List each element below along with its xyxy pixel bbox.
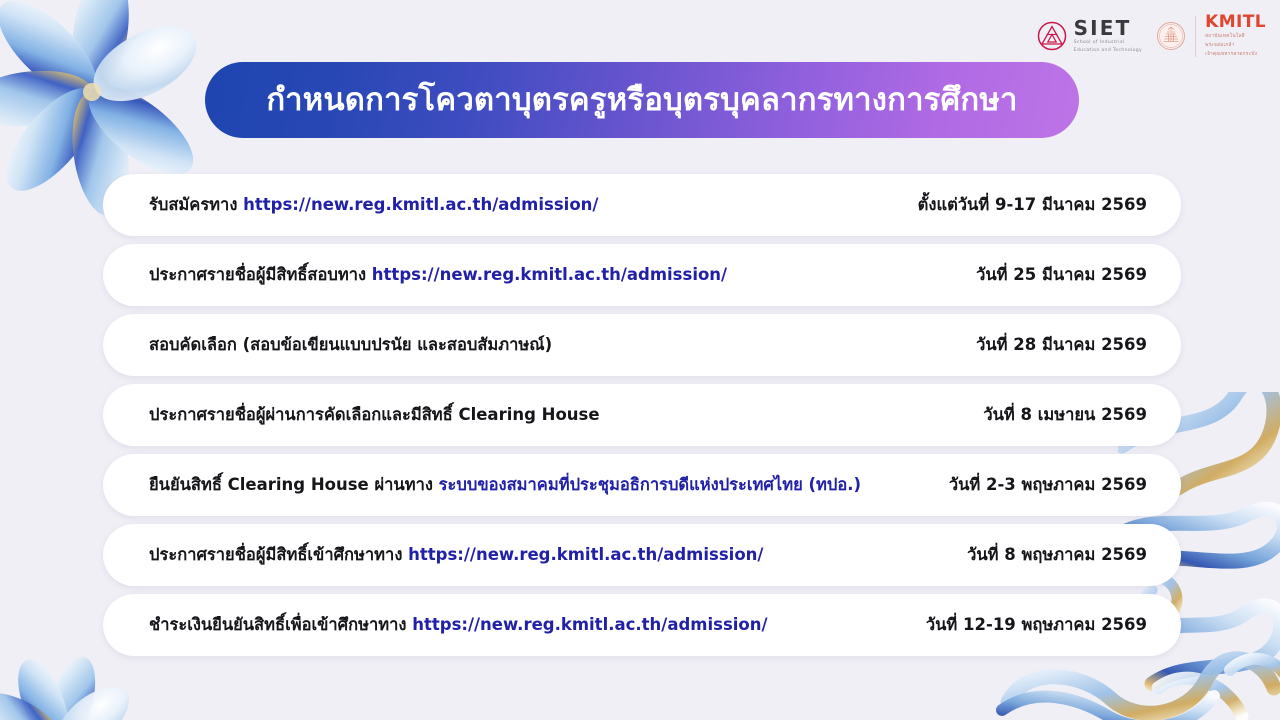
- schedule-row-label: ชำระเงินยืนยันสิทธิ์เพื่อเข้าศึกษาทาง ht…: [149, 617, 926, 634]
- schedule-row-date: วันที่ 28 มีนาคม 2569: [976, 337, 1147, 354]
- schedule-row-label: รับสมัครทาง https://new.reg.kmitl.ac.th/…: [149, 197, 918, 214]
- schedule-row-label: ยืนยันสิทธิ์ Clearing House ผ่านทาง ระบบ…: [149, 477, 949, 494]
- page-title: กำหนดการโควตาบุตรครูหรือบุตรบุคลากรทางกา…: [266, 85, 1017, 116]
- schedule-row: ประกาศรายชื่อผู้ผ่านการคัดเลือกและมีสิทธ…: [103, 384, 1181, 446]
- schedule-row: ชำระเงินยืนยันสิทธิ์เพื่อเข้าศึกษาทาง ht…: [103, 594, 1181, 656]
- schedule-row-date: วันที่ 8 พฤษภาคม 2569: [967, 547, 1147, 564]
- schedule-row-label-text: สอบคัดเลือก (สอบข้อเขียนแบบปรนัย และสอบส…: [149, 335, 552, 354]
- kmitl-logo: KMITL สถาบันเทคโนโลยี พระจอมเกล้า เจ้าคุ…: [1156, 14, 1266, 59]
- schedule-row: สอบคัดเลือก (สอบข้อเขียนแบบปรนัย และสอบส…: [103, 314, 1181, 376]
- schedule-row-date: วันที่ 12-19 พฤษภาคม 2569: [926, 617, 1147, 634]
- schedule-row-label-text: ชำระเงินยืนยันสิทธิ์เพื่อเข้าศึกษาทาง: [149, 615, 412, 634]
- schedule-row-link[interactable]: https://new.reg.kmitl.ac.th/admission/: [412, 615, 767, 634]
- schedule-row-label: สอบคัดเลือก (สอบข้อเขียนแบบปรนัย และสอบส…: [149, 337, 976, 354]
- schedule-row: ประกาศรายชื่อผู้มีสิทธิ์เข้าศึกษาทาง htt…: [103, 524, 1181, 586]
- siet-triangle-circle-logo-icon: [1037, 21, 1067, 51]
- schedule-row-label-text: ประกาศรายชื่อผู้มีสิทธิ์เข้าศึกษาทาง: [149, 545, 408, 564]
- schedule-row-date: วันที่ 25 มีนาคม 2569: [976, 267, 1147, 284]
- schedule-row-link[interactable]: https://new.reg.kmitl.ac.th/admission/: [372, 265, 727, 284]
- schedule-row-highlight: ระบบของสมาคมที่ประชุมอธิการบดีแห่งประเทศ…: [439, 475, 861, 494]
- schedule-row-label-text: ประกาศรายชื่อผู้มีสิทธิ์สอบทาง: [149, 265, 372, 284]
- kmitl-subtitle-line2: พระจอมเกล้า: [1205, 42, 1266, 49]
- page-title-banner: กำหนดการโควตาบุตรครูหรือบุตรบุคลากรทางกา…: [205, 62, 1079, 138]
- schedule-row-date: วันที่ 8 เมษายน 2569: [983, 407, 1147, 424]
- siet-subtitle-line2: Education and Technology: [1074, 48, 1143, 55]
- kmitl-subtitle-line3: เจ้าคุณทหารลาดกระบัง: [1205, 51, 1266, 58]
- schedule-row: ยืนยันสิทธิ์ Clearing House ผ่านทาง ระบบ…: [103, 454, 1181, 516]
- siet-subtitle-line1: School of Industrial: [1074, 40, 1143, 47]
- schedule-row-label: ประกาศรายชื่อผู้ผ่านการคัดเลือกและมีสิทธ…: [149, 407, 983, 424]
- schedule-row-label-text: รับสมัครทาง: [149, 195, 243, 214]
- schedule-row-label-text: ประกาศรายชื่อผู้ผ่านการคัดเลือกและมีสิทธ…: [149, 405, 600, 424]
- schedule-row-label: ประกาศรายชื่อผู้มีสิทธิ์สอบทาง https://n…: [149, 267, 976, 284]
- siet-name: SIET: [1074, 18, 1143, 38]
- schedule-row-date: ตั้งแต่วันที่ 9-17 มีนาคม 2569: [918, 197, 1147, 214]
- schedule-row: รับสมัครทาง https://new.reg.kmitl.ac.th/…: [103, 174, 1181, 236]
- kmitl-subtitle-line1: สถาบันเทคโนโลยี: [1205, 33, 1266, 40]
- logo-bar: SIET School of Industrial Education and …: [1037, 14, 1266, 59]
- siet-logo: SIET School of Industrial Education and …: [1037, 18, 1143, 55]
- schedule-row-link[interactable]: https://new.reg.kmitl.ac.th/admission/: [408, 545, 763, 564]
- schedule-row-label-text: ยืนยันสิทธิ์ Clearing House ผ่านทาง: [149, 475, 439, 494]
- kmitl-name: KMITL: [1205, 14, 1266, 31]
- schedule-row-link[interactable]: https://new.reg.kmitl.ac.th/admission/: [243, 195, 598, 214]
- admission-schedule-list: รับสมัครทาง https://new.reg.kmitl.ac.th/…: [103, 174, 1181, 656]
- schedule-row: ประกาศรายชื่อผู้มีสิทธิ์สอบทาง https://n…: [103, 244, 1181, 306]
- schedule-row-date: วันที่ 2-3 พฤษภาคม 2569: [949, 477, 1147, 494]
- kmitl-seal-logo-icon: [1156, 21, 1186, 51]
- schedule-row-label: ประกาศรายชื่อผู้มีสิทธิ์เข้าศึกษาทาง htt…: [149, 547, 967, 564]
- kmitl-logo-divider: [1195, 16, 1196, 57]
